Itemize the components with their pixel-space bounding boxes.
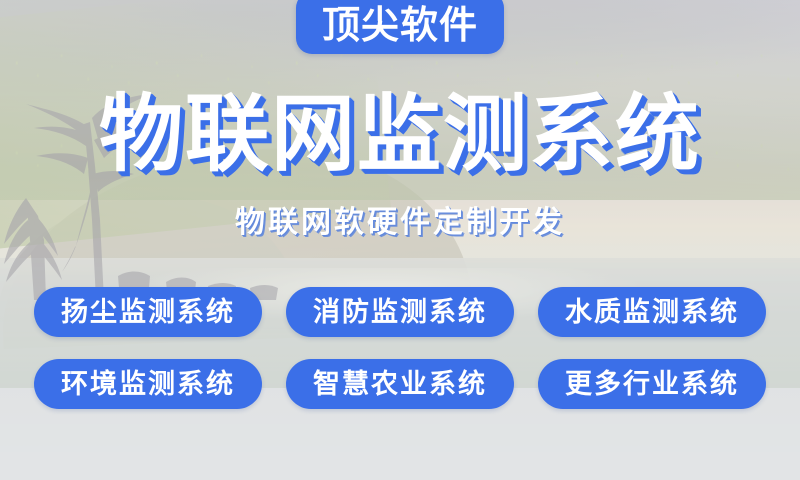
system-button-water-quality[interactable]: 水质监测系统	[538, 287, 766, 337]
system-button-environment[interactable]: 环境监测系统	[34, 359, 262, 409]
system-button-more-industries[interactable]: 更多行业系统	[538, 359, 766, 409]
brand-badge[interactable]: 顶尖软件	[296, 0, 504, 54]
system-button-fire[interactable]: 消防监测系统	[286, 287, 514, 337]
system-button-label: 环境监测系统	[61, 371, 235, 398]
system-button-label: 更多行业系统	[565, 371, 739, 398]
promo-banner: 顶尖软件 物联网监测系统 物联网软硬件定制开发 扬尘监测系统 消防监测系统 水质…	[0, 0, 800, 480]
brand-badge-label: 顶尖软件	[322, 6, 478, 44]
system-button-label: 智慧农业系统	[313, 371, 487, 398]
page-subtitle: 物联网软硬件定制开发	[0, 208, 800, 238]
page-title: 物联网监测系统	[0, 92, 800, 176]
system-button-label: 扬尘监测系统	[61, 299, 235, 326]
system-button-dust[interactable]: 扬尘监测系统	[34, 287, 262, 337]
system-button-smart-agriculture[interactable]: 智慧农业系统	[286, 359, 514, 409]
system-button-label: 消防监测系统	[313, 299, 487, 326]
system-button-label: 水质监测系统	[565, 299, 739, 326]
system-button-grid: 扬尘监测系统 消防监测系统 水质监测系统 环境监测系统 智慧农业系统 更多行业系…	[34, 287, 766, 409]
